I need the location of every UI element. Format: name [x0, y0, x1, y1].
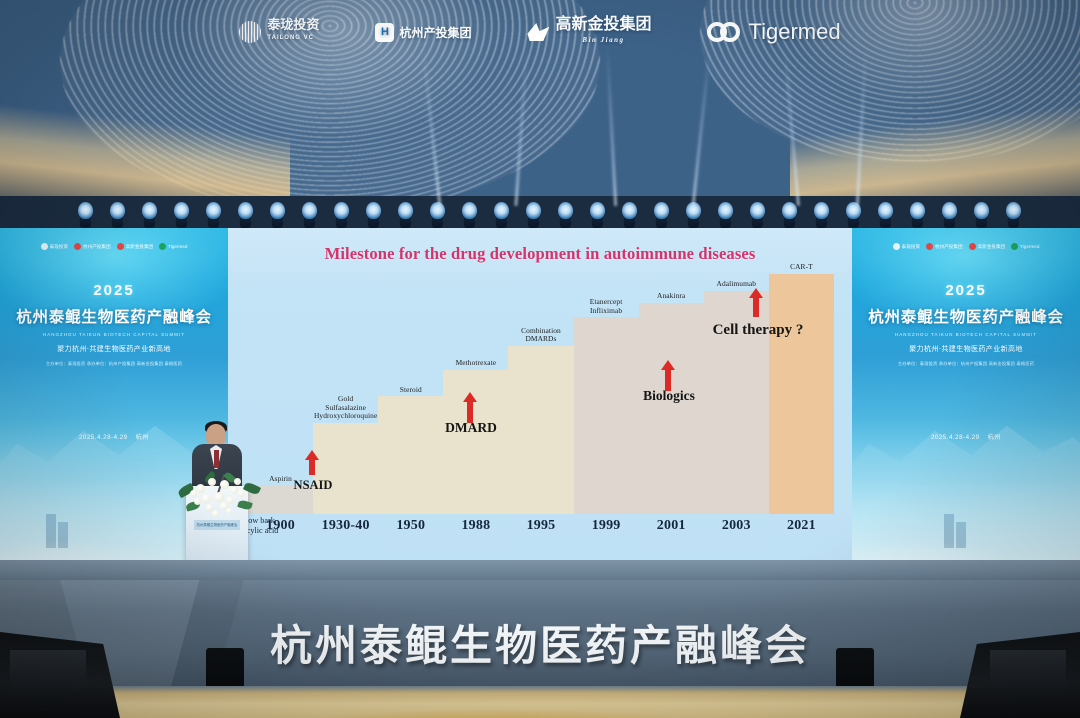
chart-x-axis: Willow bark Salicylic acid 19001930-4019…	[248, 514, 834, 542]
chantou-mark-icon	[926, 243, 933, 250]
bar-drug-label: Steroid	[400, 386, 422, 395]
kv-date-right: 2025.4.28-4.29杭州	[852, 432, 1080, 441]
stage-light	[238, 202, 253, 228]
jintou-mark-icon	[117, 243, 124, 250]
floral-arrangement	[176, 468, 260, 522]
flower-bloom	[208, 478, 216, 486]
kv-logo-label: 泰珑投资	[902, 244, 920, 250]
bar-drug-label: CAR-T	[790, 263, 813, 272]
flower-bloom	[190, 490, 197, 497]
bar-drug-label: CombinationDMARDs	[521, 327, 561, 344]
kv-tigermed-logo-left: Tigermed	[159, 243, 187, 250]
flower-bloom	[202, 494, 211, 503]
x-axis-tick: 1930-40	[313, 518, 378, 534]
stage-light	[750, 202, 765, 228]
banner-tailong-vc-logo: 泰珑投资 TAILONG VC	[239, 20, 319, 44]
kv-logo-label: Tigermed	[168, 244, 187, 249]
monitor-screen	[10, 650, 86, 690]
flower-bloom	[194, 498, 201, 505]
x-axis-tick: 2021	[769, 518, 834, 534]
kv-subtitle-right: 聚力杭州·共建生物医药产业新高地	[852, 344, 1080, 354]
tailong-mark-icon	[41, 243, 48, 250]
sponsor-banner: 泰珑投资 TAILONG VC H 杭州产投集团 高新金投集团 Bin Jian…	[0, 0, 1080, 64]
x-axis-tick: 1950	[378, 518, 443, 534]
flower-bloom	[206, 504, 213, 511]
stage-light	[302, 202, 317, 228]
x-axis-tick: 1995	[508, 518, 573, 534]
kv-mountain-graphic-right	[852, 398, 1080, 480]
era-label-biologics: Biologics	[626, 388, 712, 404]
stage-light	[398, 202, 413, 228]
tigermed-mark-icon	[707, 22, 741, 42]
banner-logo-cn: 高新金投集团	[555, 15, 651, 32]
banner-logo-cn: 泰珑投资	[267, 20, 319, 32]
podium-and-speaker: 杭州泰鲲生物医药产融峰会	[168, 418, 264, 578]
flower-bloom	[220, 480, 229, 489]
kv-city-value: 杭州	[136, 434, 149, 441]
kv-hangzhou-chantou-logo-right: 杭州产投集团	[926, 243, 963, 250]
banner-logo-en: Tigermed	[748, 19, 840, 45]
chantou-mark-icon: H	[375, 23, 394, 42]
flower-bloom	[230, 486, 238, 494]
stage-light	[622, 202, 637, 228]
kv-year-right: 2025	[852, 282, 1080, 299]
kv-organizers-left: 主办单位：泰珑投资 承办单位：杭州产投集团 高新金投集团 泰格医药	[0, 361, 228, 367]
chart-bar: EtanerceptInfliximab	[574, 317, 639, 514]
stage-light	[110, 202, 125, 228]
banner-tigermed-logo: Tigermed	[707, 19, 840, 45]
kv-building-graphic	[58, 522, 68, 548]
stage-light	[942, 202, 957, 228]
chart-bar: GoldSulfasalazineHydroxychloroquine	[313, 423, 378, 514]
banner-logo-en: TAILONG VC	[267, 32, 319, 44]
flower-bloom	[234, 478, 241, 485]
flower-leaf	[237, 499, 253, 511]
era-label-cell-therapy: Cell therapy ?	[684, 322, 832, 339]
speaker-tie	[214, 450, 219, 468]
stage-light	[782, 202, 797, 228]
stage-light	[814, 202, 829, 228]
banner-logo-cn: 杭州产投集团	[399, 24, 471, 41]
stage-light	[174, 202, 189, 228]
kv-gaoxin-jintou-logo-left: 高新金投集团	[117, 243, 154, 250]
led-screen-wall: 泰珑投资 杭州产投集团 高新金投集团 Tigermed 2025 杭州泰鲲生物医…	[0, 228, 1080, 568]
kv-subtitle-left: 聚力杭州·共建生物医药产业新高地	[0, 344, 228, 354]
kv-tailong-vc-logo-right: 泰珑投资	[893, 243, 920, 250]
tigermed-mark-icon	[1011, 243, 1018, 250]
kv-organizers-right: 主办单位：泰珑投资 承办单位：杭州产投集团 高新金投集团 泰格医药	[852, 361, 1080, 367]
x-axis-tick: 1988	[443, 518, 508, 534]
flower-bloom	[226, 508, 232, 514]
presentation-slide: Milestone for the drug development in au…	[228, 228, 852, 568]
kv-gaoxin-jintou-logo-right: 高新金投集团	[969, 243, 1006, 250]
kv-year-left: 2025	[0, 282, 228, 299]
stage-light	[718, 202, 733, 228]
banner-logo-en: Bin Jiang	[555, 32, 651, 49]
chart-bar: CAR-T	[769, 274, 834, 514]
stage-light	[366, 202, 381, 228]
kv-building-graphic	[46, 514, 56, 548]
x-axis-tick: 2001	[639, 518, 704, 534]
kv-logo-label: Tigermed	[1020, 244, 1039, 249]
kv-building-graphic	[944, 514, 954, 548]
milestone-bar-chart: AspirinGoldSulfasalazineHydroxychloroqui…	[248, 274, 834, 542]
kv-logo-label: 高新金投集团	[978, 244, 1006, 250]
stage-light	[1006, 202, 1021, 228]
kv-logo-label: 高新金投集团	[126, 244, 154, 250]
chantou-mark-icon	[74, 243, 81, 250]
kv-date-value: 2025.4.28-4.29	[931, 434, 980, 441]
kv-logo-label: 杭州产投集团	[935, 244, 963, 250]
stage-light	[686, 202, 701, 228]
stage-front-title: 杭州泰鲲生物医药产融峰会	[0, 612, 1080, 673]
wing-icon	[527, 23, 549, 41]
stage-monitor-left	[0, 632, 120, 718]
stage-light	[430, 202, 445, 228]
chart-bar: Steroid	[378, 396, 443, 514]
kv-date-value: 2025.4.28-4.29	[79, 434, 128, 441]
kv-title-en-left: HANGZHOU TAIKUN BIOTECH CAPITAL SUMMIT	[0, 332, 228, 337]
kv-title-en-right: HANGZHOU TAIKUN BIOTECH CAPITAL SUMMIT	[852, 332, 1080, 337]
flower-bloom	[212, 510, 219, 517]
conference-stage-photo: 泰珑投资 杭州产投集团 高新金投集团 Tigermed 2025 杭州泰鲲生物医…	[0, 0, 1080, 718]
stage-light	[206, 202, 221, 228]
kv-title-cn-right: 杭州泰鲲生物医药产融峰会	[852, 305, 1080, 327]
flower-bloom	[238, 490, 245, 497]
tailong-mark-icon	[893, 243, 900, 250]
tigermed-mark-icon	[159, 243, 166, 250]
jintou-mark-icon	[969, 243, 976, 250]
stage-light	[590, 202, 605, 228]
flower-bloom	[214, 492, 224, 502]
monitor-screen	[990, 650, 1066, 690]
banner-hangzhou-chantou-logo: H 杭州产投集团	[375, 23, 471, 42]
kv-city-value: 杭州	[988, 434, 1001, 441]
bar-drug-label: EtanerceptInfliximab	[590, 298, 623, 315]
kv-logo-label: 泰珑投资	[50, 244, 68, 250]
kv-logo-row-right: 泰珑投资 杭州产投集团 高新金投集团 Tigermed	[852, 243, 1080, 250]
stage-light	[974, 202, 989, 228]
kv-hangzhou-chantou-logo-left: 杭州产投集团	[74, 243, 111, 250]
banner-gaoxin-jintou-logo: 高新金投集团 Bin Jiang	[527, 15, 651, 49]
stage-light	[910, 202, 925, 228]
bar-drug-label: GoldSulfasalazineHydroxychloroquine	[314, 395, 377, 421]
stage-light	[878, 202, 893, 228]
kv-tailong-vc-logo-left: 泰珑投资	[41, 243, 68, 250]
kv-title-cn-left: 杭州泰鲲生物医药产融峰会	[0, 305, 228, 327]
stage-light	[142, 202, 157, 228]
kv-tigermed-logo-right: Tigermed	[1011, 243, 1039, 250]
kv-logo-row-left: 泰珑投资 杭州产投集团 高新金投集团 Tigermed	[0, 243, 228, 250]
stage-light	[558, 202, 573, 228]
bar-drug-label: Anakinra	[657, 292, 685, 301]
flower-bloom	[196, 484, 205, 493]
stage-light	[654, 202, 669, 228]
globe-icon	[239, 21, 261, 43]
stage-light	[462, 202, 477, 228]
stage-light	[526, 202, 541, 228]
stage-light	[334, 202, 349, 228]
stage-light	[78, 202, 93, 228]
era-label-dmard: DMARD	[434, 420, 508, 436]
ballroom-carpet	[0, 686, 1080, 718]
stage-light	[270, 202, 285, 228]
x-axis-tick: 2003	[704, 518, 769, 534]
flower-leaf	[243, 481, 261, 496]
stage-light	[494, 202, 509, 228]
kv-logo-label: 杭州产投集团	[83, 244, 111, 250]
era-label-nsaid: NSAID	[282, 478, 344, 493]
bar-drug-label: Methotrexate	[456, 359, 497, 368]
kv-building-graphic	[956, 522, 966, 548]
slide-title: Milestone for the drug development in au…	[228, 244, 852, 264]
key-visual-panel-right: 泰珑投资 杭州产投集团 高新金投集团 Tigermed 2025 杭州泰鲲生物医…	[852, 228, 1080, 568]
x-axis-tick: 1999	[574, 518, 639, 534]
chart-bar: CombinationDMARDs	[508, 346, 573, 514]
stage-monitor-right	[960, 632, 1080, 718]
